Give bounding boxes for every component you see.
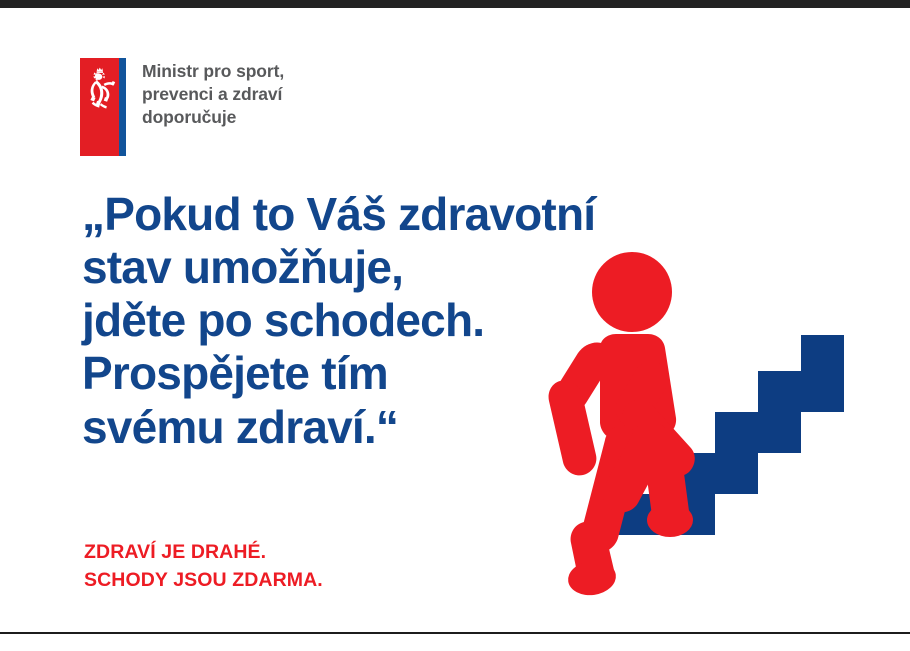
logo-text: Ministr pro sport, prevenci a zdraví dop… bbox=[142, 58, 284, 129]
poster-canvas: Ministr pro sport, prevenci a zdraví dop… bbox=[0, 0, 910, 651]
figure-front-foot bbox=[647, 503, 693, 537]
illustration bbox=[548, 252, 868, 602]
tagline: ZDRAVÍ JE DRAHÉ. SCHODY JSOU ZDARMA. bbox=[84, 539, 323, 594]
person-figure-shape bbox=[549, 252, 695, 598]
czech-flag-banner bbox=[80, 58, 126, 156]
figure-head bbox=[592, 252, 672, 332]
page-title: „Pokud to Váš zdravotní stav umožňuje, j… bbox=[82, 188, 602, 454]
bottom-divider bbox=[0, 632, 910, 634]
czech-lion-emblem-icon bbox=[83, 66, 117, 110]
person-climbing-stairs-icon bbox=[548, 252, 868, 602]
window-top-bar bbox=[0, 0, 910, 8]
ministry-logo: Ministr pro sport, prevenci a zdraví dop… bbox=[80, 58, 284, 156]
flag-blue-stripe bbox=[119, 58, 126, 156]
